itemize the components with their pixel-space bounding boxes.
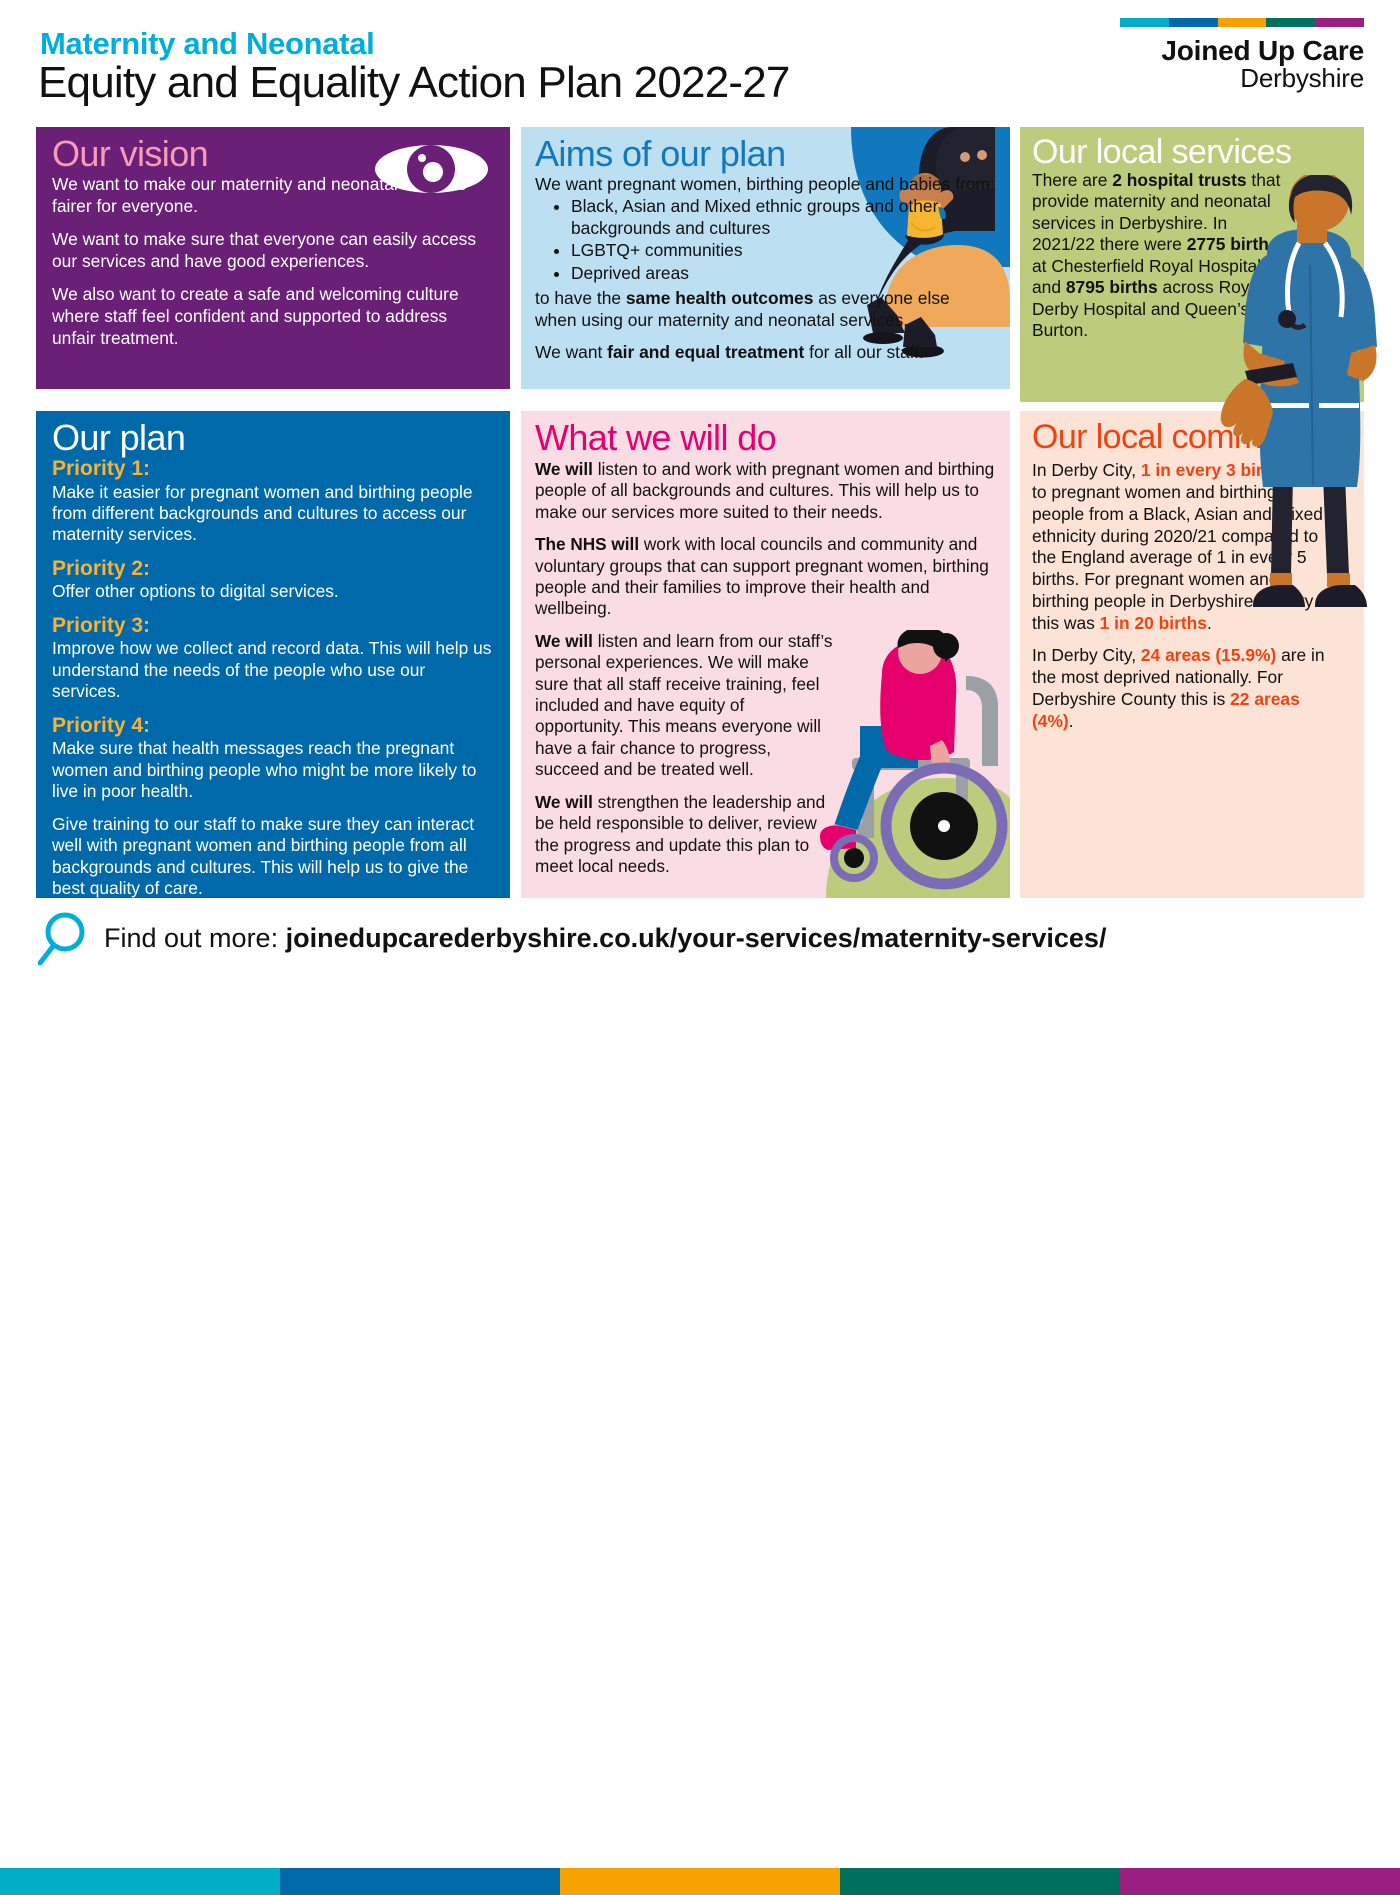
aims-bullet-list: Black, Asian and Mixed ethnic groups and… [535, 196, 996, 284]
aims-intro: We want pregnant women, birthing people … [535, 174, 996, 195]
our-local-services-title: Our local services [1032, 135, 1352, 169]
footer-bar-magenta [1120, 1868, 1400, 1895]
logo-bar-magenta [1315, 18, 1364, 27]
joined-up-care-logo: Joined Up Care Derbyshire [1120, 18, 1364, 92]
footer-bar-teal [840, 1868, 1120, 1895]
infographic-page: Maternity and Neonatal Equity and Equali… [0, 0, 1400, 990]
priority-3-label: Priority 3: [52, 614, 494, 638]
our-plan-title: Our plan [52, 420, 494, 456]
logo-bar-blue [1169, 18, 1218, 27]
logo-line-2: Derbyshire [1120, 65, 1364, 92]
logo-bar-teal [1266, 18, 1315, 27]
priority-1-label: Priority 1: [52, 457, 494, 481]
our-plan-closing-text: Give training to our staff to make sure … [52, 814, 494, 898]
aims-bullet-1: Black, Asian and Mixed ethnic groups and… [571, 196, 996, 239]
panel-our-vision: Our vision We want to make our maternity… [36, 127, 510, 389]
header-subtitle: Maternity and Neonatal [40, 26, 374, 62]
logo-bar-cyan [1120, 18, 1169, 27]
website-url[interactable]: joinedupcarederbyshire.co.uk/your-servic… [286, 923, 1107, 953]
logo-color-bars [1120, 18, 1364, 27]
what-we-will-do-title: What we will do [535, 420, 996, 456]
magnifier-icon [38, 911, 88, 965]
our-vision-paragraph-2: We want to make sure that everyone can e… [52, 229, 494, 273]
panel-our-plan: Our plan Priority 1: Make it easier for … [36, 411, 510, 898]
find-out-more-text: Find out more: joinedupcarederbyshire.co… [104, 923, 1106, 954]
priority-1-text: Make it easier for pregnant women and bi… [52, 482, 494, 546]
logo-bar-orange [1218, 18, 1267, 27]
footer-bar-cyan [0, 1868, 280, 1895]
community-paragraph-2: In Derby City, 24 areas (15.9%) are in t… [1032, 645, 1332, 732]
panel-aims-of-our-plan: Aims of our plan We want pregnant women,… [521, 127, 1010, 389]
logo-line-1: Joined Up Care [1120, 36, 1364, 65]
our-plan-body: Priority 1: Make it easier for pregnant … [52, 457, 494, 898]
our-vision-body: We want to make our maternity and neonat… [52, 174, 494, 349]
priority-2-label: Priority 2: [52, 557, 494, 581]
what-item-2: The NHS will work with local councils an… [535, 534, 996, 620]
aims-bullet-3: Deprived areas [571, 263, 996, 284]
priority-4-text: Make sure that health messages reach the… [52, 738, 494, 802]
what-item-3: We will listen and learn from our staff’… [535, 631, 835, 781]
aims-outro-1: to have the same health outcomes as ever… [535, 288, 996, 331]
footer-bar-orange [560, 1868, 840, 1895]
what-we-will-do-body: We will listen to and work with pregnant… [535, 459, 996, 877]
page-title: Equity and Equality Action Plan 2022-27 [38, 58, 790, 108]
priority-3-text: Improve how we collect and record data. … [52, 638, 494, 702]
what-item-4: We will strengthen the leadership and be… [535, 792, 835, 878]
eye-icon [375, 143, 488, 195]
footer-color-bars [0, 1868, 1400, 1895]
nurse-with-stethoscope-illustration [1215, 175, 1400, 620]
page-header: Maternity and Neonatal Equity and Equali… [0, 0, 1400, 118]
what-item-1: We will listen to and work with pregnant… [535, 459, 996, 523]
panel-what-we-will-do: What we will do We will listen to and wo… [521, 411, 1010, 898]
priority-4-label: Priority 4: [52, 714, 494, 738]
aims-outro-2: We want fair and equal treatment for all… [535, 342, 996, 363]
our-vision-paragraph-3: We also want to create a safe and welcom… [52, 284, 494, 350]
find-out-more-label: Find out more: [104, 923, 286, 953]
aims-body: We want pregnant women, birthing people … [535, 174, 996, 364]
footer-bar-blue [280, 1868, 560, 1895]
aims-bullet-2: LGBTQ+ communities [571, 240, 996, 261]
page-footer: Find out more: joinedupcarederbyshire.co… [0, 905, 1400, 990]
priority-2-text: Offer other options to digital services. [52, 581, 494, 602]
